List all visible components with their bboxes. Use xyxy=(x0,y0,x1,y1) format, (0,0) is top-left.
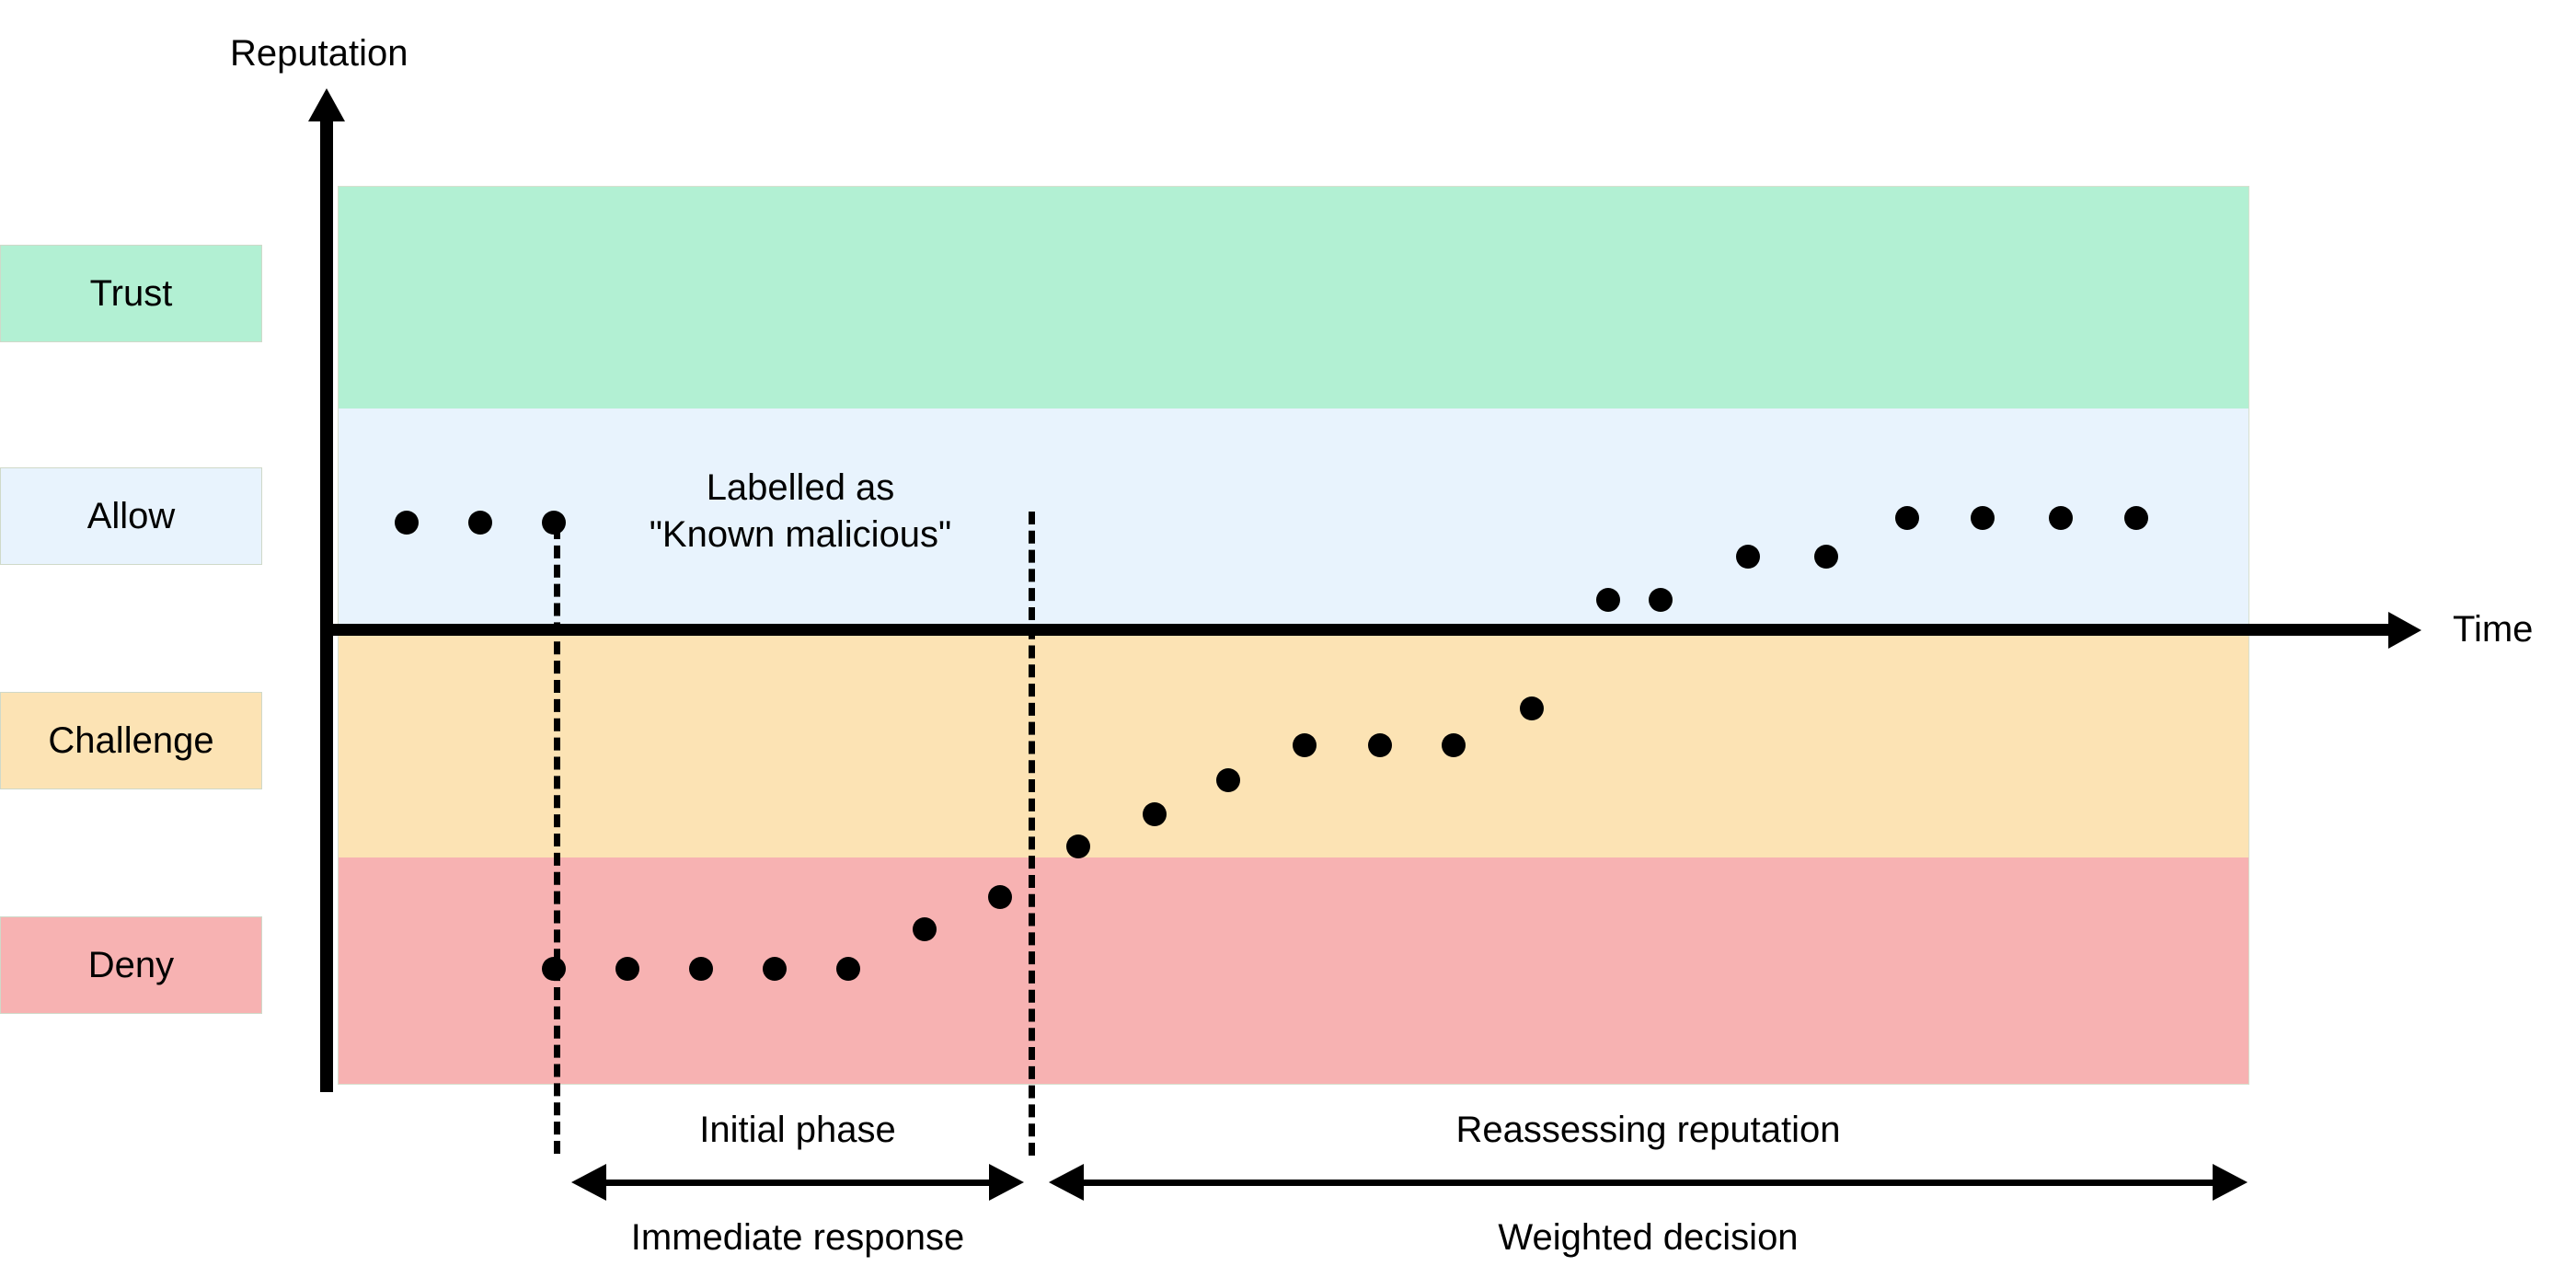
annotation-known-malicious: Labelled as"Known malicious" xyxy=(589,465,1012,558)
data-point xyxy=(1143,802,1167,826)
legend-label-allow: Allow xyxy=(87,498,176,535)
data-point xyxy=(1368,733,1392,757)
annotation-line-1: Labelled as xyxy=(707,467,895,508)
phase-arrow-initial-left-head-icon xyxy=(571,1164,606,1201)
phase-arrow-reassessing-left-head-icon xyxy=(1049,1164,1084,1201)
data-point xyxy=(1736,545,1760,569)
legend-chip-challenge: Challenge xyxy=(0,692,262,789)
annotation-line-2: "Known malicious" xyxy=(650,514,952,555)
data-point xyxy=(1216,768,1240,792)
data-point xyxy=(689,957,713,981)
legend-chip-trust: Trust xyxy=(0,245,262,342)
data-point xyxy=(1442,733,1466,757)
reputation-timeline-diagram: Trust Allow Challenge Deny Reputation Ti… xyxy=(0,0,2576,1266)
legend-label-trust: Trust xyxy=(90,275,173,312)
data-point xyxy=(468,511,492,535)
data-point xyxy=(395,511,419,535)
data-point xyxy=(615,957,639,981)
data-point xyxy=(988,885,1012,909)
phase-caption-weighted-decision: Weighted decision xyxy=(1049,1219,2248,1256)
phase-arrow-reassessing-bar xyxy=(1076,1180,2220,1186)
phase-divider-initial-start xyxy=(554,526,560,1154)
data-point xyxy=(1895,506,1919,530)
data-point xyxy=(1293,733,1317,757)
data-point xyxy=(1971,506,1995,530)
phase-divider-initial-end xyxy=(1029,512,1035,1156)
phase-arrow-initial-bar xyxy=(599,1180,996,1186)
legend-label-challenge: Challenge xyxy=(48,722,213,759)
y-axis-arrowhead-icon xyxy=(308,88,345,121)
legend-label-deny: Deny xyxy=(88,947,174,984)
phase-caption-immediate-response: Immediate response xyxy=(553,1219,1042,1256)
y-axis-line xyxy=(320,114,333,1092)
y-axis-label: Reputation xyxy=(230,35,408,72)
phase-arrow-initial-right-head-icon xyxy=(989,1164,1024,1201)
data-point xyxy=(913,917,937,941)
x-axis-line xyxy=(327,624,2390,636)
data-point xyxy=(836,957,860,981)
data-point xyxy=(1520,696,1544,720)
data-point xyxy=(2049,506,2073,530)
phase-arrow-reassessing-right-head-icon xyxy=(2213,1164,2248,1201)
phase-title-initial: Initial phase xyxy=(571,1111,1024,1148)
data-point xyxy=(1649,588,1673,612)
data-point xyxy=(1066,834,1090,858)
plot-band-trust xyxy=(338,186,2249,409)
legend-chip-allow: Allow xyxy=(0,467,262,565)
phase-arrow-reassessing xyxy=(1049,1180,2248,1186)
data-point xyxy=(1596,588,1620,612)
legend-chip-deny: Deny xyxy=(0,916,262,1014)
data-point xyxy=(2124,506,2148,530)
x-axis-label: Time xyxy=(2453,611,2533,648)
x-axis-arrowhead-icon xyxy=(2388,612,2421,649)
data-point xyxy=(763,957,787,981)
data-point xyxy=(542,511,566,535)
phase-title-reassessing: Reassessing reputation xyxy=(1049,1111,2248,1148)
data-point xyxy=(542,957,566,981)
data-point xyxy=(1814,545,1838,569)
phase-arrow-initial xyxy=(571,1180,1024,1186)
